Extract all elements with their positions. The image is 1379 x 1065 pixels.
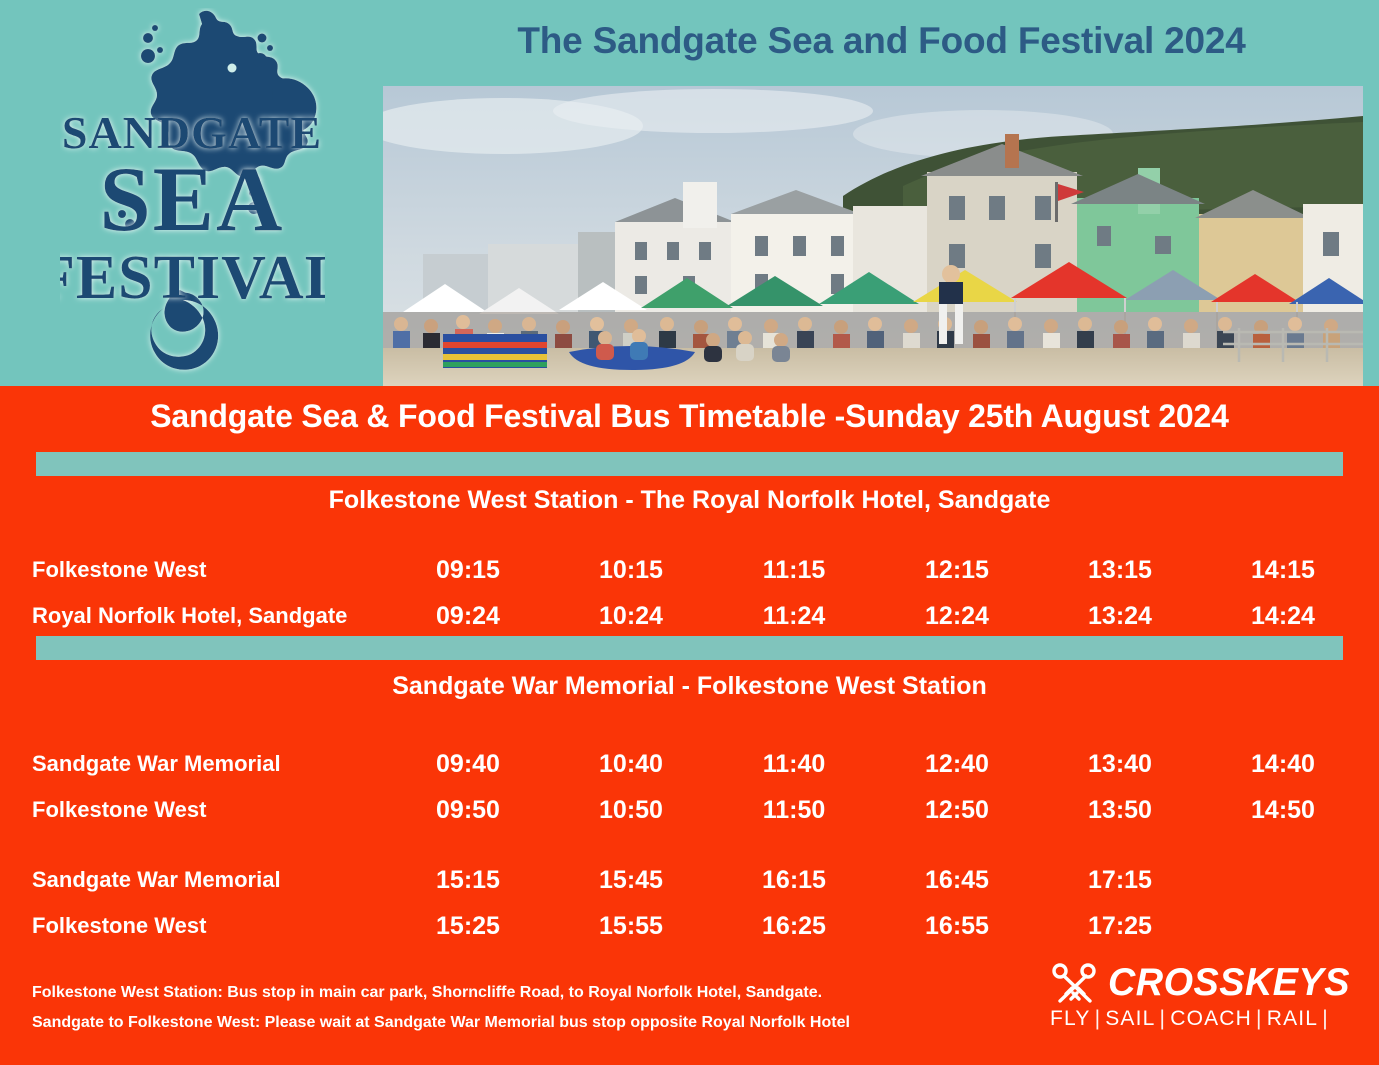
departure-times: 15:25 15:55 16:25 16:55 17:25 bbox=[408, 910, 1348, 942]
mode-rail: RAIL bbox=[1267, 1007, 1319, 1030]
section-divider-bar-2 bbox=[36, 636, 1343, 660]
stop-label: Folkestone West bbox=[32, 910, 206, 942]
table-row: Folkestone West 09:50 10:50 11:50 12:50 … bbox=[0, 794, 1379, 834]
time-cell: 16:25 bbox=[734, 910, 854, 942]
table-row: Sandgate War Memorial 15:15 15:45 16:15 … bbox=[0, 864, 1379, 904]
table-row: Folkestone West 09:15 10:15 11:15 12:15 … bbox=[0, 554, 1379, 594]
time-cell: 11:50 bbox=[734, 794, 854, 826]
operator-name: CROSSKEYS bbox=[1108, 960, 1350, 1006]
operator-logo: CROSSKEYS FLY|SAIL|COACH|RAIL| bbox=[1046, 961, 1336, 1046]
time-cell: 10:15 bbox=[571, 554, 691, 586]
time-cell: 15:15 bbox=[408, 864, 528, 896]
time-cell: 12:15 bbox=[897, 554, 1017, 586]
time-cell: 09:24 bbox=[408, 600, 528, 632]
footnotes: Folkestone West Station: Bus stop in mai… bbox=[32, 978, 1012, 1038]
time-cell: 09:40 bbox=[408, 748, 528, 780]
stop-label: Royal Norfolk Hotel, Sandgate bbox=[32, 600, 347, 632]
time-cell: 11:24 bbox=[734, 600, 854, 632]
mode-fly: FLY bbox=[1050, 1007, 1091, 1030]
time-cell: 14:24 bbox=[1223, 600, 1343, 632]
bus-timetable-poster: SANDGATE SEA FESTIVAL The Sandgate Sea a… bbox=[0, 0, 1379, 1065]
departure-times: 15:15 15:45 16:15 16:45 17:15 bbox=[408, 864, 1348, 896]
timetable-panel: Sandgate Sea & Food Festival Bus Timetab… bbox=[0, 386, 1379, 1065]
time-cell: 10:50 bbox=[571, 794, 691, 826]
time-cell: 16:15 bbox=[734, 864, 854, 896]
stop-label: Sandgate War Memorial bbox=[32, 864, 281, 896]
festival-banner: SANDGATE SEA FESTIVAL The Sandgate Sea a… bbox=[0, 0, 1379, 386]
stop-label: Folkestone West bbox=[32, 554, 206, 586]
stop-label: Sandgate War Memorial bbox=[32, 748, 281, 780]
time-cell: 14:40 bbox=[1223, 748, 1343, 780]
mode-coach: COACH bbox=[1170, 1007, 1252, 1030]
departure-times: 09:24 10:24 11:24 12:24 13:24 14:24 bbox=[408, 600, 1348, 632]
time-cell: 14:50 bbox=[1223, 794, 1343, 826]
logo-text-festival: FESTIVAL bbox=[60, 244, 325, 312]
seahorse-logo-icon: SANDGATE SEA FESTIVAL bbox=[60, 8, 325, 380]
crossed-keys-icon bbox=[1046, 963, 1104, 1005]
timetable-title: Sandgate Sea & Food Festival Bus Timetab… bbox=[0, 398, 1379, 435]
time-cell: 13:15 bbox=[1060, 554, 1180, 586]
time-cell: 11:15 bbox=[734, 554, 854, 586]
table-row: Royal Norfolk Hotel, Sandgate 09:24 10:2… bbox=[0, 600, 1379, 640]
time-cell: 15:45 bbox=[571, 864, 691, 896]
time-cell: 14:15 bbox=[1223, 554, 1343, 586]
mode-separator-3: | bbox=[1252, 1007, 1267, 1030]
time-cell: 16:55 bbox=[897, 910, 1017, 942]
time-cell: 15:25 bbox=[408, 910, 528, 942]
logo-text-sea: SEA bbox=[100, 148, 285, 250]
festival-title: The Sandgate Sea and Food Festival 2024 bbox=[400, 16, 1363, 66]
time-cell: 11:40 bbox=[734, 748, 854, 780]
mode-sail: SAIL bbox=[1105, 1007, 1155, 1030]
section-heading-outbound: Folkestone West Station - The Royal Norf… bbox=[0, 486, 1379, 515]
mode-separator-2: | bbox=[1156, 1007, 1171, 1030]
time-cell: 12:24 bbox=[897, 600, 1017, 632]
section-heading-return: Sandgate War Memorial - Folkestone West … bbox=[0, 672, 1379, 701]
time-cell: 13:24 bbox=[1060, 600, 1180, 632]
festival-photo-illustration bbox=[383, 86, 1363, 386]
departure-times: 09:40 10:40 11:40 12:40 13:40 14:40 bbox=[408, 748, 1348, 780]
time-cell: 09:50 bbox=[408, 794, 528, 826]
time-cell: 12:50 bbox=[897, 794, 1017, 826]
footnote-return: Sandgate to Folkestone West: Please wait… bbox=[32, 1008, 1012, 1038]
festival-logo: SANDGATE SEA FESTIVAL bbox=[0, 0, 383, 386]
festival-photo bbox=[383, 86, 1363, 386]
footnote-outbound: Folkestone West Station: Bus stop in mai… bbox=[32, 978, 1012, 1008]
mode-separator-4: | bbox=[1318, 1007, 1333, 1030]
operator-modes: FLY|SAIL|COACH|RAIL| bbox=[1050, 1005, 1333, 1033]
departure-times: 09:50 10:50 11:50 12:50 13:50 14:50 bbox=[408, 794, 1348, 826]
time-cell: 16:45 bbox=[897, 864, 1017, 896]
time-cell: 10:24 bbox=[571, 600, 691, 632]
mode-separator-1: | bbox=[1091, 1007, 1106, 1030]
stop-label: Folkestone West bbox=[32, 794, 206, 826]
time-cell: 15:55 bbox=[571, 910, 691, 942]
time-cell: 17:25 bbox=[1060, 910, 1180, 942]
time-cell: 10:40 bbox=[571, 748, 691, 780]
time-cell: 09:15 bbox=[408, 554, 528, 586]
table-row: Folkestone West 15:25 15:55 16:25 16:55 … bbox=[0, 910, 1379, 950]
operator-logo-top: CROSSKEYS bbox=[1046, 961, 1336, 1007]
section-divider-bar-1 bbox=[36, 452, 1343, 476]
time-cell: 12:40 bbox=[897, 748, 1017, 780]
time-cell: 13:50 bbox=[1060, 794, 1180, 826]
time-cell: 13:40 bbox=[1060, 748, 1180, 780]
departure-times: 09:15 10:15 11:15 12:15 13:15 14:15 bbox=[408, 554, 1348, 586]
table-row: Sandgate War Memorial 09:40 10:40 11:40 … bbox=[0, 748, 1379, 788]
time-cell: 17:15 bbox=[1060, 864, 1180, 896]
